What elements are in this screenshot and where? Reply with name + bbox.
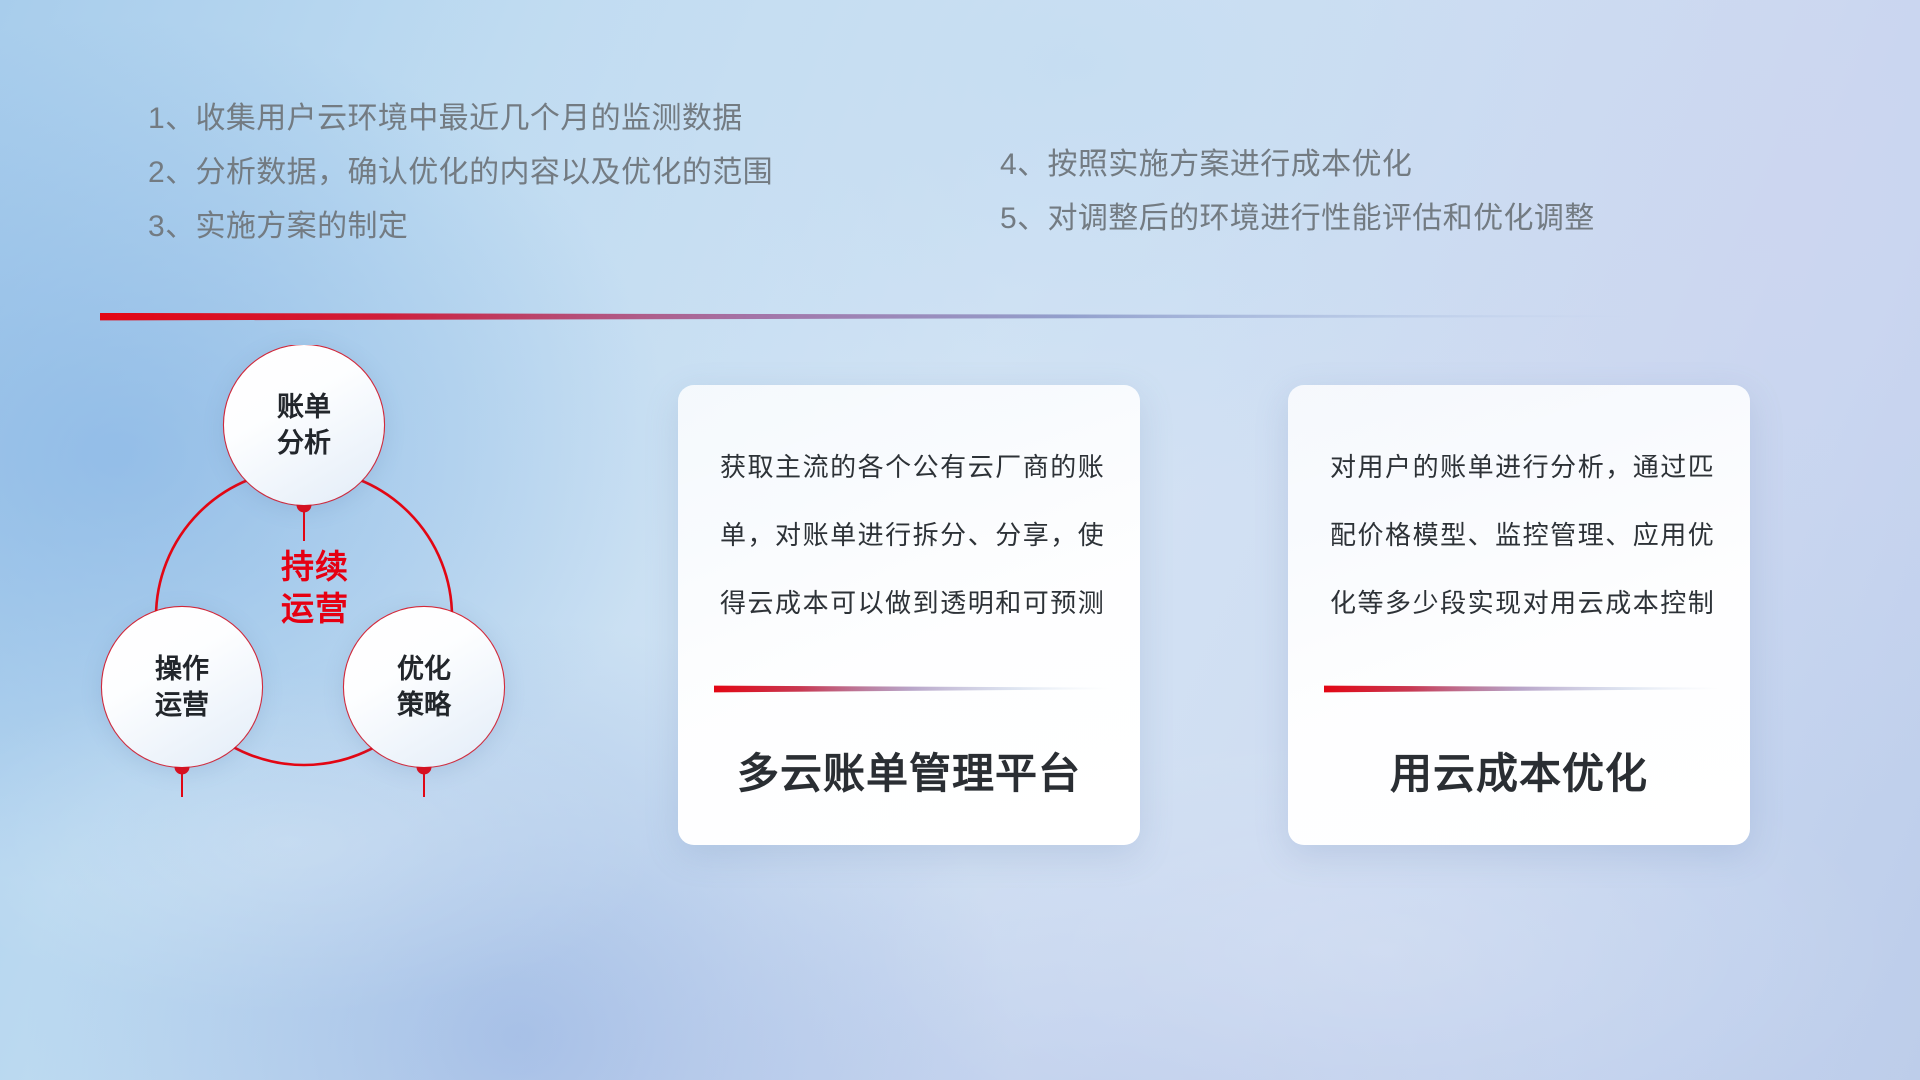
card-body: 对用户的账单进行分析，通过匹配价格模型、监控管理、应用优化等多少段实现对用云成本… [1330, 433, 1714, 637]
card-rule-divider [1324, 684, 1720, 693]
venn-center-label: 持续 运营 [230, 505, 400, 670]
step-item-5: 5、对调整后的环境进行性能评估和优化调整 [1000, 192, 1595, 246]
step-item-2: 2、分析数据，确认优化的内容以及优化的范围 [148, 146, 773, 200]
card-rule-divider [714, 684, 1110, 693]
step-item-1: 1、收集用户云环境中最近几个月的监测数据 [148, 92, 773, 146]
feature-card-multi-cloud-bill-platform[interactable]: 获取主流的各个公有云厂商的账单，对账单进行拆分、分享，使得云成本可以做到透明和可… [678, 385, 1140, 845]
venn-bubble-bill-analysis[interactable]: 账单 分析 [224, 345, 384, 505]
card-title: 多云账单管理平台 [678, 740, 1140, 801]
venn-bubble-label-line1: 操作 [155, 651, 209, 687]
feature-card-cloud-cost-optimization[interactable]: 对用户的账单进行分析，通过匹配价格模型、监控管理、应用优化等多少段实现对用云成本… [1288, 385, 1750, 845]
card-body: 获取主流的各个公有云厂商的账单，对账单进行拆分、分享，使得云成本可以做到透明和可… [720, 433, 1104, 637]
venn-bubble-label-line2: 策略 [397, 687, 451, 723]
venn-bubble-label-line2: 分析 [277, 425, 331, 461]
steps-list: 1、收集用户云环境中最近几个月的监测数据 2、分析数据，确认优化的内容以及优化的… [0, 92, 1920, 272]
venn-center-label-line2: 运营 [281, 588, 349, 630]
venn-bubble-label-line1: 优化 [397, 651, 451, 687]
card-description: 获取主流的各个公有云厂商的账单，对账单进行拆分、分享，使得云成本可以做到透明和可… [720, 433, 1104, 637]
step-item-3: 3、实施方案的制定 [148, 200, 773, 254]
section-divider [100, 311, 1660, 321]
venn-bubble-label-line2: 运营 [155, 687, 209, 723]
steps-column-left: 1、收集用户云环境中最近几个月的监测数据 2、分析数据，确认优化的内容以及优化的… [148, 92, 773, 254]
venn-bubble-label-line1: 账单 [277, 389, 331, 425]
steps-column-right: 4、按照实施方案进行成本优化 5、对调整后的环境进行性能评估和优化调整 [1000, 138, 1595, 246]
step-item-4: 4、按照实施方案进行成本优化 [1000, 138, 1595, 192]
card-title: 用云成本优化 [1288, 740, 1750, 801]
card-description: 对用户的账单进行分析，通过匹配价格模型、监控管理、应用优化等多少段实现对用云成本… [1330, 433, 1714, 637]
venn-center-label-line1: 持续 [281, 546, 349, 588]
continuous-operation-diagram: 账单 分析 操作 运营 优化 策略 持续 运营 [80, 345, 640, 925]
